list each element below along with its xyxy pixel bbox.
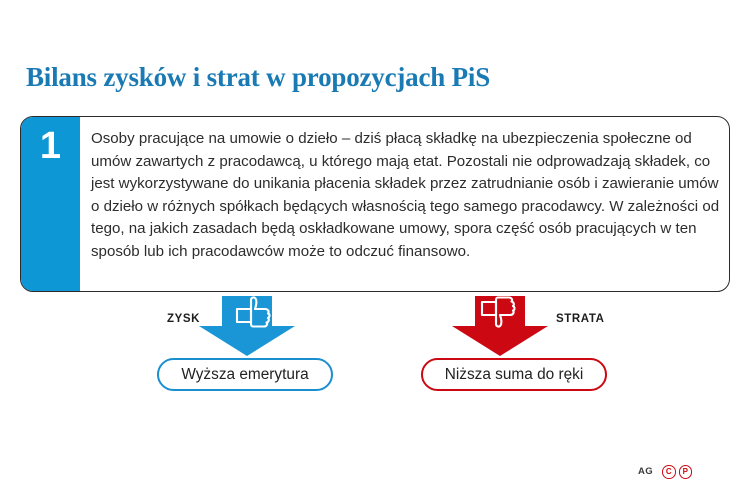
statement-number: 1 — [40, 127, 61, 165]
statement-number-badge: 1 — [21, 117, 80, 291]
credit-block: AG C P — [638, 465, 692, 479]
loss-arrow-icon — [452, 296, 548, 356]
rights-marks: C P — [662, 465, 692, 479]
statement-text: Osoby pracujące na umowie o dzieło – dzi… — [91, 128, 721, 264]
gain-arrow-icon — [199, 296, 295, 356]
page-title: Bilans zysków i strat w propozycjach PiS — [26, 62, 490, 93]
gain-arrow — [199, 296, 295, 356]
gain-label: ZYSK — [167, 313, 200, 325]
loss-arrow — [452, 296, 548, 356]
phonogram-icon: P — [679, 465, 693, 479]
statement-box: 1 Osoby pracujące na umowie o dzieło – d… — [20, 116, 730, 292]
copyright-icon: C — [662, 465, 676, 479]
gain-result-box: Wyższa emerytura — [157, 358, 333, 391]
loss-label: STRATA — [556, 313, 605, 325]
loss-result-box: Niższa suma do ręki — [421, 358, 607, 391]
author-initials: AG — [638, 466, 653, 477]
